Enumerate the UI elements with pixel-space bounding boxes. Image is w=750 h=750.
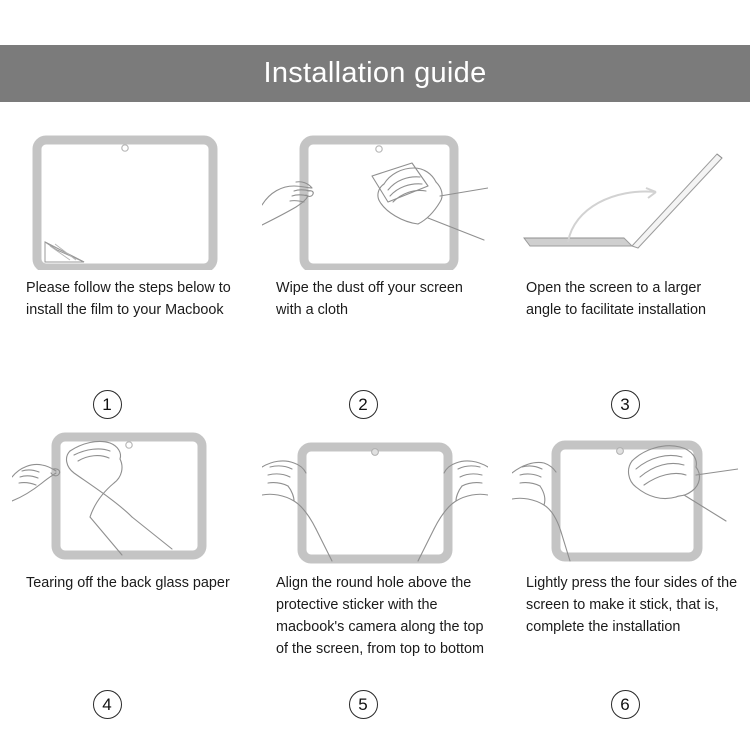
laptop-opening-side-view-icon <box>512 130 738 270</box>
step-badge-wrap: 4 <box>0 690 220 725</box>
step-badge-wrap: 2 <box>250 390 476 425</box>
step-badge-wrap: 6 <box>512 690 738 725</box>
step-description: Open the screen to a larger angle to fac… <box>512 278 738 322</box>
step-card-5: Align the round hole above the protectiv… <box>250 425 500 725</box>
step-description: Tearing off the back glass paper <box>12 573 230 595</box>
page-title: Installation guide <box>263 59 486 88</box>
steps-grid: Please follow the steps below to install… <box>0 130 750 725</box>
hand-pressing-screen-sides-icon <box>512 425 738 565</box>
step-badge-wrap: 1 <box>0 390 220 425</box>
step-card-1: Please follow the steps below to install… <box>0 130 250 425</box>
hand-wiping-screen-with-cloth-icon <box>262 130 488 270</box>
header-band: Installation guide <box>0 45 750 102</box>
step-description: Lightly press the four sides of the scre… <box>512 573 738 639</box>
step-description: Wipe the dust off your screen with a clo… <box>262 278 488 322</box>
step-number-badge: 4 <box>93 690 122 719</box>
two-hands-aligning-film-icon <box>262 425 488 565</box>
screen-with-peeling-corner-icon <box>12 130 238 270</box>
step-number-badge: 3 <box>611 390 640 419</box>
step-card-4: Tearing off the back glass paper 4 <box>0 425 250 725</box>
step-card-6: Lightly press the four sides of the scre… <box>500 425 750 725</box>
step-number-badge: 5 <box>349 690 378 719</box>
step-card-3: Open the screen to a larger angle to fac… <box>500 130 750 425</box>
step-badge-wrap: 3 <box>512 390 738 425</box>
hands-tearing-back-paper-icon <box>12 425 238 565</box>
step-badge-wrap: 5 <box>250 690 476 725</box>
step-number-badge: 1 <box>93 390 122 419</box>
step-number-badge: 2 <box>349 390 378 419</box>
step-number-badge: 6 <box>611 690 640 719</box>
step-card-2: Wipe the dust off your screen with a clo… <box>250 130 500 425</box>
step-description: Please follow the steps below to install… <box>12 278 238 322</box>
step-description: Align the round hole above the protectiv… <box>262 573 488 661</box>
